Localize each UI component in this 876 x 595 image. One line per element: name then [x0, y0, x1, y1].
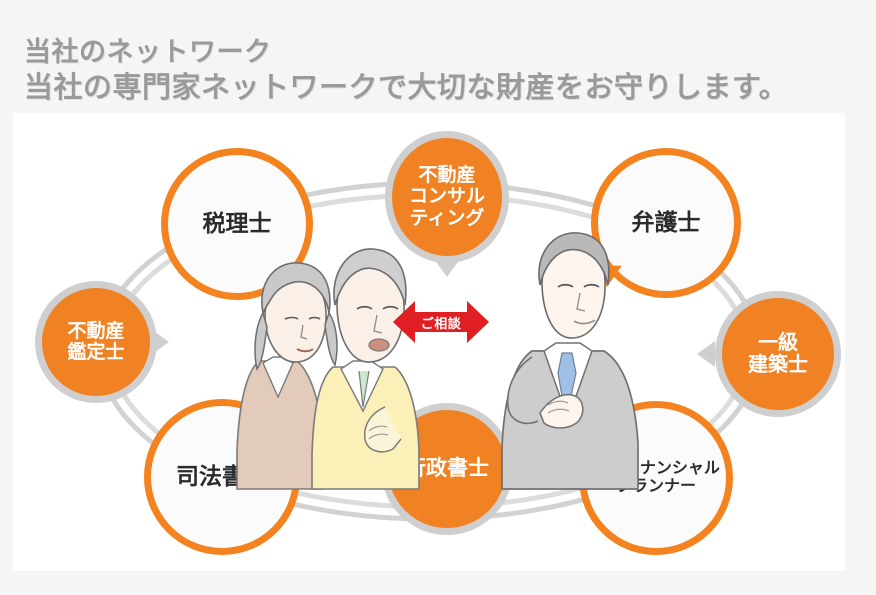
network-node-label: 不動産 コンサル ティング	[409, 165, 485, 229]
network-node-label: 不動産 鑑定士	[67, 321, 124, 364]
network-diagram: ご相談 税理士不動産 コンサル ティング弁護士不動産 鑑定士一級 建築士司法書士…	[13, 113, 845, 571]
network-node-first-class-architect[interactable]: 一級 建築士	[715, 291, 841, 417]
network-node-pointer-icon	[434, 259, 460, 277]
client-couple-illustration	[213, 221, 423, 491]
page-title: 当社のネットワーク 当社の専門家ネットワークで大切な財産をお守りします。	[24, 36, 864, 106]
page-title-line2: 当社の専門家ネットワークで大切な財産をお守りします。	[24, 71, 864, 106]
consultation-arrow: ご相談	[393, 297, 489, 347]
network-node-re-appraiser[interactable]: 不動産 鑑定士	[35, 281, 157, 403]
network-diagram-page: 当社のネットワーク 当社の専門家ネットワークで大切な財産をお守りします。	[0, 0, 876, 595]
advisor-businessman-illustration	[488, 223, 648, 491]
network-node-label: 一級 建築士	[748, 332, 808, 377]
page-title-line1: 当社のネットワーク	[24, 36, 864, 69]
network-node-pointer-icon	[151, 329, 169, 355]
network-node-pointer-icon	[697, 341, 715, 367]
consultation-arrow-label: ご相談	[421, 313, 462, 332]
